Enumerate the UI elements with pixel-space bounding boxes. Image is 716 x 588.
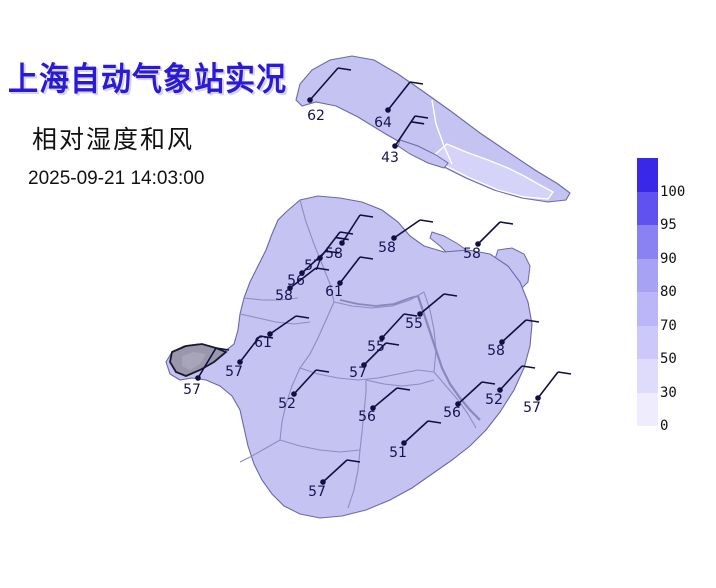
station-humidity-value: 52 (485, 392, 503, 408)
station-humidity-value: 57 (349, 365, 367, 381)
station-marker-dot[interactable] (385, 107, 391, 113)
weather-map-page: 上海自动气象站实况 相对湿度和风 2025-09-21 14:03:00 100… (0, 0, 716, 588)
chongming-island (296, 56, 570, 202)
station-humidity-value: 56 (358, 409, 376, 425)
weather-station[interactable]: 57 (523, 372, 571, 416)
station-humidity-value: 43 (381, 150, 399, 166)
wind-barb-feather (500, 222, 513, 224)
wind-barb-feather (558, 372, 571, 374)
station-humidity-value: 58 (487, 343, 505, 359)
station-humidity-value: 56 (443, 405, 461, 421)
station-humidity-value: 58 (378, 240, 396, 256)
station-humidity-value: 57 (225, 364, 243, 380)
station-humidity-value: 55 (405, 316, 423, 332)
station-marker-dot[interactable] (392, 143, 398, 149)
station-humidity-value: 58 (275, 288, 293, 304)
station-marker-dot[interactable] (195, 375, 201, 381)
shanghai-map: 6264435857565861585855556157575258565257… (0, 0, 716, 588)
wind-barb-shaft (538, 372, 558, 398)
station-humidity-value: 58 (463, 246, 481, 262)
station-humidity-value: 52 (278, 396, 296, 412)
station-humidity-value: 51 (389, 445, 407, 461)
station-humidity-value: 57 (308, 484, 326, 500)
station-marker-dot[interactable] (307, 97, 313, 103)
station-humidity-value: 57 (183, 382, 201, 398)
station-humidity-value: 62 (307, 108, 325, 124)
station-marker-dot[interactable] (339, 240, 345, 246)
wind-barb-shaft (478, 222, 500, 244)
station-humidity-value: 57 (304, 258, 322, 274)
station-humidity-value: 64 (374, 115, 392, 131)
station-humidity-value: 57 (523, 400, 541, 416)
station-humidity-value: 61 (325, 284, 343, 300)
wind-barb-feather (420, 220, 433, 222)
